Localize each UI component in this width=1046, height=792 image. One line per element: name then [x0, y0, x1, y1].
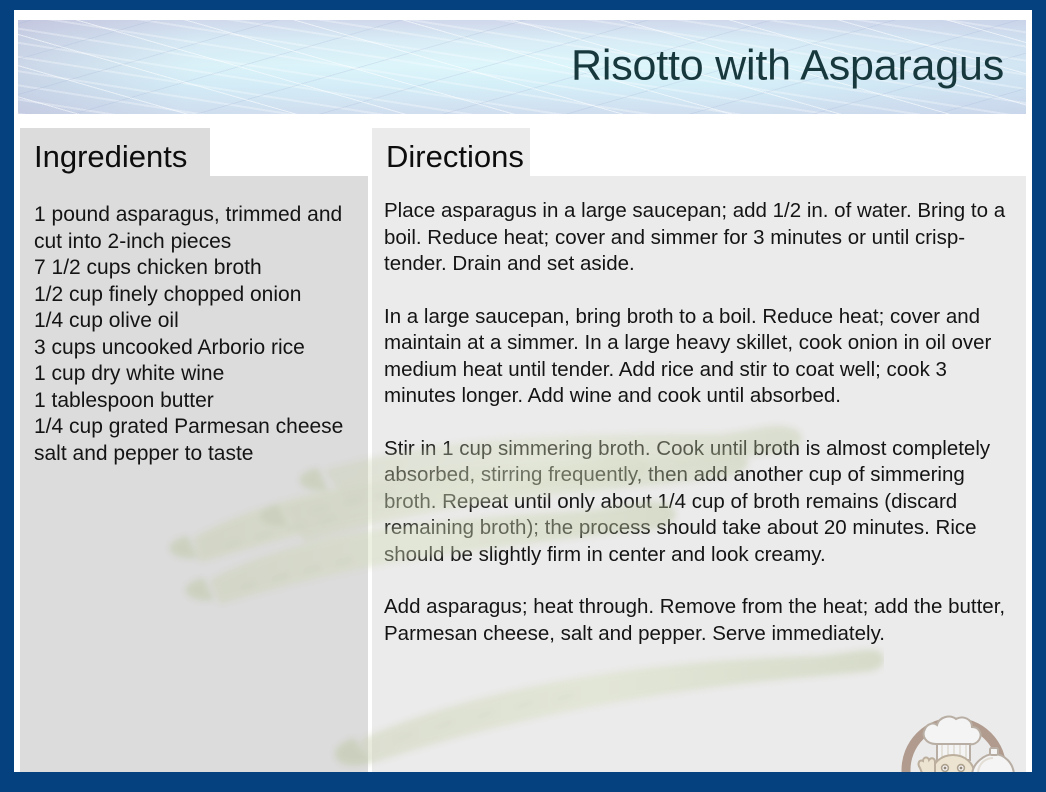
- directions-heading: Directions: [386, 140, 524, 174]
- list-item: salt and pepper to taste: [34, 441, 358, 468]
- ingredients-panel: 1 pound asparagus, trimmed and cut into …: [20, 176, 368, 772]
- direction-step: Place asparagus in a large saucepan; add…: [384, 198, 1010, 278]
- directions-column: Directions Place asparagus in a large sa…: [372, 128, 1026, 772]
- chef-logo-icon: [890, 700, 1018, 772]
- direction-step: Add asparagus; heat through. Remove from…: [384, 594, 1010, 647]
- list-item: 3 cups uncooked Arborio rice: [34, 335, 358, 362]
- ingredients-section-tab: Ingredients: [20, 128, 210, 176]
- directions-panel: Place asparagus in a large saucepan; add…: [372, 176, 1026, 772]
- direction-step: In a large saucepan, bring broth to a bo…: [384, 304, 1010, 410]
- list-item: 1 pound asparagus, trimmed and cut into …: [34, 202, 358, 255]
- list-item: 7 1/2 cups chicken broth: [34, 255, 358, 282]
- list-item: 1/2 cup finely chopped onion: [34, 282, 358, 309]
- page-title: Risotto with Asparagus: [571, 44, 1004, 89]
- recipe-card: Risotto with Asparagus Ingredients 1 pou…: [14, 10, 1032, 772]
- list-item: 1 tablespoon butter: [34, 388, 358, 415]
- list-item: 1 cup dry white wine: [34, 361, 358, 388]
- title-banner: Risotto with Asparagus: [18, 20, 1026, 114]
- list-item: 1/4 cup grated Parmesan cheese: [34, 414, 358, 441]
- ingredients-heading: Ingredients: [34, 140, 187, 174]
- recipe-card-page: Risotto with Asparagus Ingredients 1 pou…: [0, 0, 1046, 792]
- direction-step: Stir in 1 cup simmering broth. Cook unti…: [384, 436, 1010, 569]
- list-item: 1/4 cup olive oil: [34, 308, 358, 335]
- directions-section-tab: Directions: [372, 128, 530, 176]
- ingredients-column: Ingredients 1 pound asparagus, trimmed a…: [20, 128, 368, 772]
